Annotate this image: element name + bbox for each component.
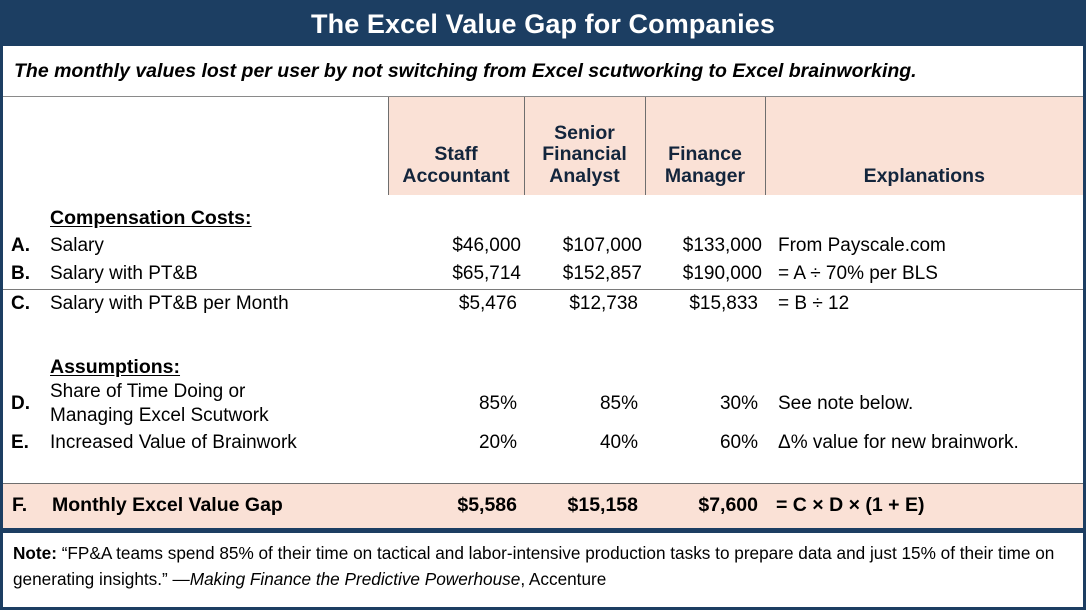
row-f-label: Monthly Excel Value Gap [39,484,388,528]
section-assumptions-spacer-4 [765,344,1083,380]
total-row: F. Monthly Excel Value Gap $5,586 $15,15… [3,484,1083,528]
note-source-title: Making Finance the Predictive Powerhouse [190,569,521,589]
row-f-explanation: = C × D × (1 + E) [765,484,1083,528]
row-b-explanation: = A ÷ 70% per BLS [765,260,1083,289]
row-b-label: Salary with PT&B [39,260,388,289]
header-blank-letter [3,97,39,195]
spacer-cell [39,458,388,484]
section-gap-spacer [3,318,1083,344]
row-d-staff-accountant: 85% [388,380,524,429]
section-compensation-spacer-3 [645,195,765,231]
header-staff-accountant: Staff Accountant [388,97,524,195]
excel-value-gap-figure: The Excel Value Gap for Companies The mo… [0,0,1086,610]
header-senior-financial-analyst: Senior Financial Analyst [524,97,645,195]
header-explanations: Explanations [765,97,1083,195]
section-heading-compensation: Compensation Costs: [50,207,252,229]
row-f-finance-manager: $7,600 [645,484,765,528]
row-c-staff-accountant: $5,476 [388,289,524,318]
row-c-finance-manager: $15,833 [645,289,765,318]
row-f-letter: F. [3,484,39,528]
section-assumptions-spacer-2 [524,344,645,380]
section-heading-assumptions-cell: Assumptions: [39,344,388,380]
table-header-row: Staff Accountant Senior Financial Analys… [3,97,1083,195]
row-a-finance-manager: $133,000 [645,231,765,260]
note-body-part2: , Accenture [520,569,606,589]
section-assumptions-spacer-3 [645,344,765,380]
table-row: E. Increased Value of Brainwork 20% 40% … [3,429,1083,458]
note-label: Note: [13,543,57,563]
row-c-letter: C. [3,289,39,318]
header-blank-label [39,97,388,195]
row-f-staff-accountant: $5,586 [388,484,524,528]
row-b-letter: B. [3,260,39,289]
section-compensation-spacer-2 [524,195,645,231]
table-row: B. Salary with PT&B $65,714 $152,857 $19… [3,260,1083,289]
row-c-label: Salary with PT&B per Month [39,289,388,318]
spacer-cell [388,318,524,344]
spacer-cell [765,458,1083,484]
section-compensation-letter-spacer [3,195,39,231]
header-staff-accountant-line2: Accountant [402,165,509,187]
figure-note: Note: “FP&A teams spend 85% of their tim… [3,533,1083,596]
spacer-cell [645,318,765,344]
row-a-letter: A. [3,231,39,260]
header-finance-manager-line1: Finance [668,143,742,165]
row-e-label: Increased Value of Brainwork [39,429,388,458]
table-row: A. Salary $46,000 $107,000 $133,000 From… [3,231,1083,260]
row-d-letter: D. [3,380,39,429]
spacer-cell [388,458,524,484]
spacer-cell [524,318,645,344]
row-d-label-line1: Share of Time Doing or [50,381,245,402]
row-e-explanation: Δ% value for new brainwork. [765,429,1083,458]
figure-subtitle: The monthly values lost per user by not … [14,60,917,83]
header-senior-financial-analyst-line1: Senior [554,122,615,144]
figure-title-bar: The Excel Value Gap for Companies [3,3,1083,46]
row-c-explanation: = B ÷ 12 [765,289,1083,318]
row-a-senior-financial-analyst: $107,000 [524,231,645,260]
row-e-staff-accountant: 20% [388,429,524,458]
row-d-senior-financial-analyst: 85% [524,380,645,429]
spacer-cell [3,458,39,484]
row-a-staff-accountant: $46,000 [388,231,524,260]
table-row: D. Share of Time Doing or Managing Excel… [3,380,1083,429]
row-c-senior-financial-analyst: $12,738 [524,289,645,318]
row-b-senior-financial-analyst: $152,857 [524,260,645,289]
row-e-senior-financial-analyst: 40% [524,429,645,458]
row-d-label: Share of Time Doing or Managing Excel Sc… [39,380,388,429]
section-heading-assumptions-row: Assumptions: [3,344,1083,380]
spacer-cell [765,318,1083,344]
header-senior-financial-analyst-line2: Financial [542,143,627,165]
spacer-cell [524,458,645,484]
figure-subtitle-row: The monthly values lost per user by not … [3,46,1083,97]
row-a-explanation: From Payscale.com [765,231,1083,260]
row-b-staff-accountant: $65,714 [388,260,524,289]
value-gap-table: Staff Accountant Senior Financial Analys… [3,97,1083,528]
section-compensation-spacer-4 [765,195,1083,231]
pre-total-spacer [3,458,1083,484]
row-b-finance-manager: $190,000 [645,260,765,289]
row-a-label: Salary [39,231,388,260]
row-d-finance-manager: 30% [645,380,765,429]
header-senior-financial-analyst-line3: Analyst [549,165,619,187]
section-heading-compensation-cell: Compensation Costs: [39,195,388,231]
row-f-senior-financial-analyst: $15,158 [524,484,645,528]
section-assumptions-spacer-1 [388,344,524,380]
header-staff-accountant-line1: Staff [434,143,477,165]
table-row: C. Salary with PT&B per Month $5,476 $12… [3,289,1083,318]
section-heading-compensation-row: Compensation Costs: [3,195,1083,231]
row-e-letter: E. [3,429,39,458]
row-d-explanation: See note below. [765,380,1083,429]
row-d-label-line2: Managing Excel Scutwork [50,405,269,426]
figure-title: The Excel Value Gap for Companies [311,9,775,40]
spacer-cell [39,318,388,344]
spacer-cell [3,318,39,344]
header-finance-manager: Finance Manager [645,97,765,195]
spacer-cell [645,458,765,484]
header-finance-manager-line2: Manager [665,165,745,187]
section-heading-assumptions: Assumptions: [50,356,180,378]
row-e-finance-manager: 60% [645,429,765,458]
section-compensation-spacer-1 [388,195,524,231]
section-assumptions-letter-spacer [3,344,39,380]
